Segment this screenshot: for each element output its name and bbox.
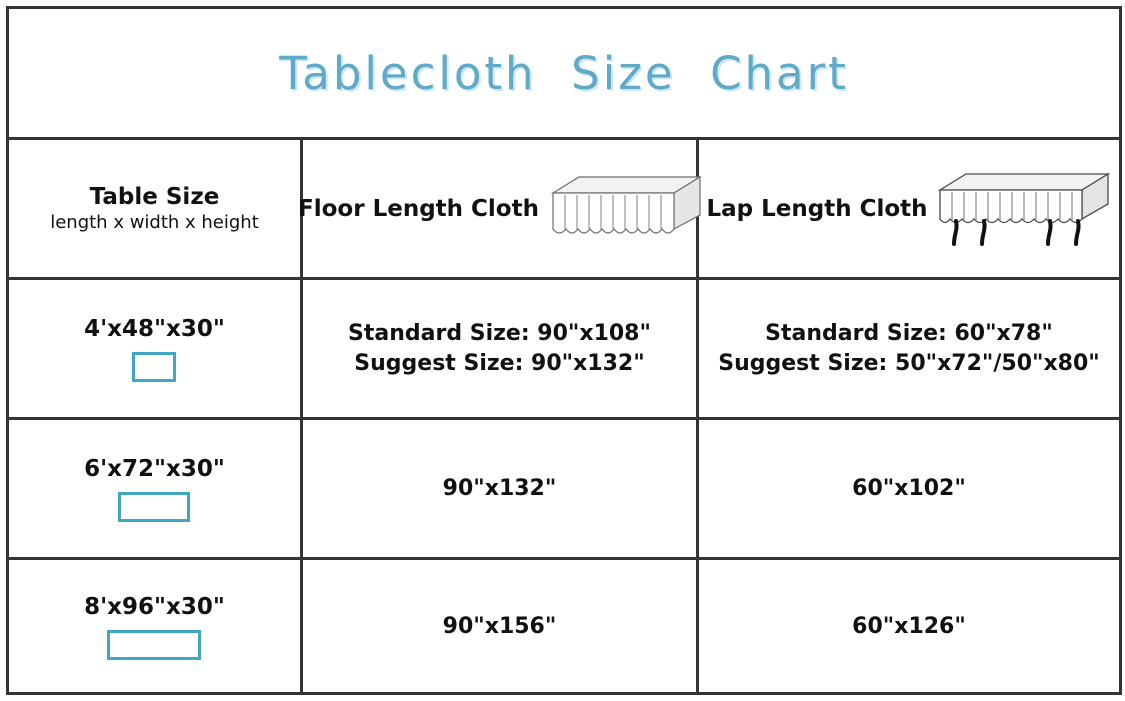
- header-table-size-subtitle: length x width x height: [50, 212, 259, 235]
- lap-length-value: Standard Size: 60"x78" Suggest Size: 50"…: [718, 319, 1100, 378]
- cell-floor-length-size: Standard Size: 90"x108" Suggest Size: 90…: [303, 280, 699, 417]
- floor-length-value: Standard Size: 90"x108" Suggest Size: 90…: [348, 319, 651, 378]
- table-size-value: 8'x96"x30": [84, 594, 225, 620]
- header-floor-length-label: Floor Length Cloth: [298, 196, 539, 222]
- table-footprint-swatch: [118, 492, 190, 522]
- lap-length-cloth-icon: [932, 166, 1112, 252]
- header-table-size-title: Table Size: [90, 183, 220, 212]
- cell-lap-length-size: 60"x126": [699, 560, 1119, 694]
- header-cell-table-size: Table Size length x width x height: [9, 140, 303, 277]
- cell-table-size: 8'x96"x30": [9, 560, 303, 694]
- header-lap-length-label: Lap Length Cloth: [706, 196, 927, 222]
- table-footprint-swatch: [132, 352, 176, 382]
- lap-length-value: 60"x102": [852, 474, 966, 504]
- table-header-row: Table Size length x width x height Floor…: [9, 140, 1119, 280]
- floor-length-value: 90"x156": [443, 612, 557, 642]
- cell-lap-length-size: Standard Size: 60"x78" Suggest Size: 50"…: [699, 280, 1119, 417]
- table-row: 6'x72"x30" 90"x132" 60"x102": [9, 420, 1119, 560]
- cell-table-size: 6'x72"x30": [9, 420, 303, 557]
- tablecloth-size-chart: Tablecloth Size Chart Table Size length …: [6, 6, 1122, 695]
- table-footprint-swatch: [107, 630, 201, 660]
- cell-lap-length-size: 60"x102": [699, 420, 1119, 557]
- title-band: Tablecloth Size Chart: [9, 9, 1119, 140]
- lap-length-value: 60"x126": [852, 612, 966, 642]
- header-cell-lap-length: Lap Length Cloth: [699, 140, 1119, 277]
- floor-length-value: 90"x132": [443, 474, 557, 504]
- cell-table-size: 4'x48"x30": [9, 280, 303, 417]
- floor-length-cloth-icon: [543, 171, 701, 247]
- table-size-value: 4'x48"x30": [84, 316, 225, 342]
- page-title: Tablecloth Size Chart: [279, 47, 849, 100]
- table-row: 8'x96"x30" 90"x156" 60"x126": [9, 560, 1119, 694]
- table-row: 4'x48"x30" Standard Size: 90"x108" Sugge…: [9, 280, 1119, 420]
- cell-floor-length-size: 90"x156": [303, 560, 699, 694]
- table-size-value: 6'x72"x30": [84, 456, 225, 482]
- header-cell-floor-length: Floor Length Cloth: [303, 140, 699, 277]
- cell-floor-length-size: 90"x132": [303, 420, 699, 557]
